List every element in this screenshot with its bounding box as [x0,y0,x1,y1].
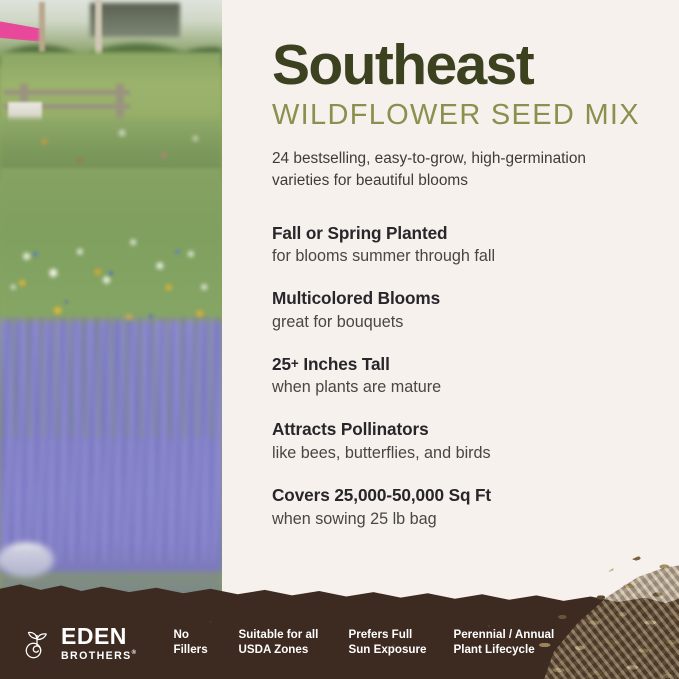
feature-title: Multicolored Blooms [272,288,645,310]
status-badge-plant-lifecycle: Perennial / Annual Plant Lifecycle [453,628,593,658]
eden-brothers-logo[interactable]: EDEN BROTHERS® [20,625,137,662]
feature-title-number: 25 [272,354,291,374]
feature-title: Attracts Pollinators [272,419,645,441]
feature-item-bloom-colors: Multicolored Blooms great for bouquets [272,288,645,333]
photo-post-right [95,0,102,58]
feature-title: Covers 25,000-50,000 Sq Ft [272,485,645,507]
feature-title-rest: Inches Tall [299,354,390,374]
feature-subtitle: for blooms summer through fall [272,246,645,267]
status-badge-no-fillers: No Fillers [173,628,238,658]
photo-post-left [39,2,45,52]
feature-item-planting-season: Fall or Spring Planted for blooms summer… [272,223,645,268]
product-poster: Southeast WILDFLOWER SEED MIX 24 bestsel… [0,0,679,679]
logo-brothers-text: BROTHERS [61,650,132,662]
page-subtitle: WILDFLOWER SEED MIX [272,100,645,132]
wildflower-meadow-photo [0,0,222,612]
content-panel: Southeast WILDFLOWER SEED MIX 24 bestsel… [222,0,679,612]
feature-title-plus: + [291,356,299,371]
photo-shed [90,3,180,37]
feature-title: 25+ Inches Tall [272,354,645,376]
registered-mark-icon: ® [132,650,138,656]
feature-subtitle: when plants are mature [272,377,645,398]
feature-subtitle: great for bouquets [272,312,645,333]
page-description: 24 bestselling, easy-to-grow, high-germi… [272,148,632,192]
feature-item-coverage: Covers 25,000-50,000 Sq Ft when sowing 2… [272,485,645,530]
footer-bar: EDEN BROTHERS® No Fillers Suitable for a… [0,607,679,679]
status-badge-usda-zones: Suitable for all USDA Zones [238,628,348,658]
feature-item-pollinators: Attracts Pollinators like bees, butterfl… [272,419,645,464]
feature-subtitle: like bees, butterflies, and birds [272,443,645,464]
logo-name-top: EDEN [61,625,137,648]
benefit-badges: No Fillers Suitable for all USDA Zones P… [173,628,593,658]
logo-wordmark: EDEN BROTHERS® [61,625,137,662]
logo-name-bottom: BROTHERS® [61,650,137,662]
status-badge-sun-exposure: Prefers Full Sun Exposure [348,628,453,658]
feature-subtitle: when sowing 25 lb bag [272,509,645,530]
photo-stems [0,318,222,438]
feature-item-height: 25+ Inches Tall when plants are mature [272,354,645,399]
page-title: Southeast [272,36,645,94]
feature-title: Fall or Spring Planted [272,223,645,245]
feature-list: Fall or Spring Planted for blooms summer… [272,223,645,530]
sprout-seedling-icon [20,626,54,660]
